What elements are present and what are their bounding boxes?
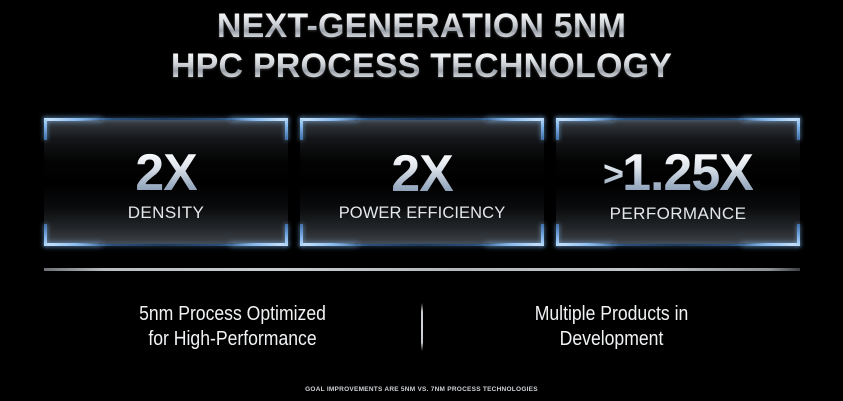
stat-card-content: >1.25X PERFORMANCE xyxy=(556,118,800,246)
stat-value-density: 2X xyxy=(135,145,197,201)
stat-label-density: DENSITY xyxy=(128,203,204,223)
footer-row: 5nm Process Optimized for High-Performan… xyxy=(44,296,800,358)
footer-right-line-1: Multiple Products in xyxy=(446,302,778,327)
stat-card-power-efficiency: 2X POWER EFFICIENCY xyxy=(300,118,544,246)
title-line-2: HPC PROCESS TECHNOLOGY xyxy=(0,46,843,86)
greater-than-icon: > xyxy=(603,153,622,194)
footer-vertical-separator xyxy=(421,303,423,351)
footer-text-left: 5nm Process Optimized for High-Performan… xyxy=(67,302,399,352)
stat-label-power-efficiency: POWER EFFICIENCY xyxy=(339,204,506,223)
title-line-1: NEXT-GENERATION 5NM xyxy=(0,6,843,46)
stat-card-density: 2X DENSITY xyxy=(44,118,288,246)
stat-card-performance: >1.25X PERFORMANCE xyxy=(556,118,800,246)
footnote: GOAL IMPROVEMENTS ARE 5NM VS. 7NM PROCES… xyxy=(0,386,843,393)
stat-value-performance: >1.25X xyxy=(603,145,753,202)
page-title: NEXT-GENERATION 5NM HPC PROCESS TECHNOLO… xyxy=(0,6,843,86)
slide-canvas: NEXT-GENERATION 5NM HPC PROCESS TECHNOLO… xyxy=(0,0,843,401)
footer-left-line-1: 5nm Process Optimized xyxy=(67,302,399,327)
stat-card-content: 2X DENSITY xyxy=(44,118,288,246)
stat-value-performance-number: 1.25X xyxy=(622,144,753,202)
stats-row: 2X DENSITY 2X POWER EFFICIENCY xyxy=(44,118,800,246)
stat-card-content: 2X POWER EFFICIENCY xyxy=(300,118,544,246)
footer-right-line-2: Development xyxy=(446,327,778,352)
footer-text-right: Multiple Products in Development xyxy=(446,302,778,352)
stat-value-power-efficiency: 2X xyxy=(391,146,453,202)
footer-left-line-2: for High-Performance xyxy=(67,327,399,352)
section-divider xyxy=(44,268,800,271)
stat-label-performance: PERFORMANCE xyxy=(610,204,747,224)
